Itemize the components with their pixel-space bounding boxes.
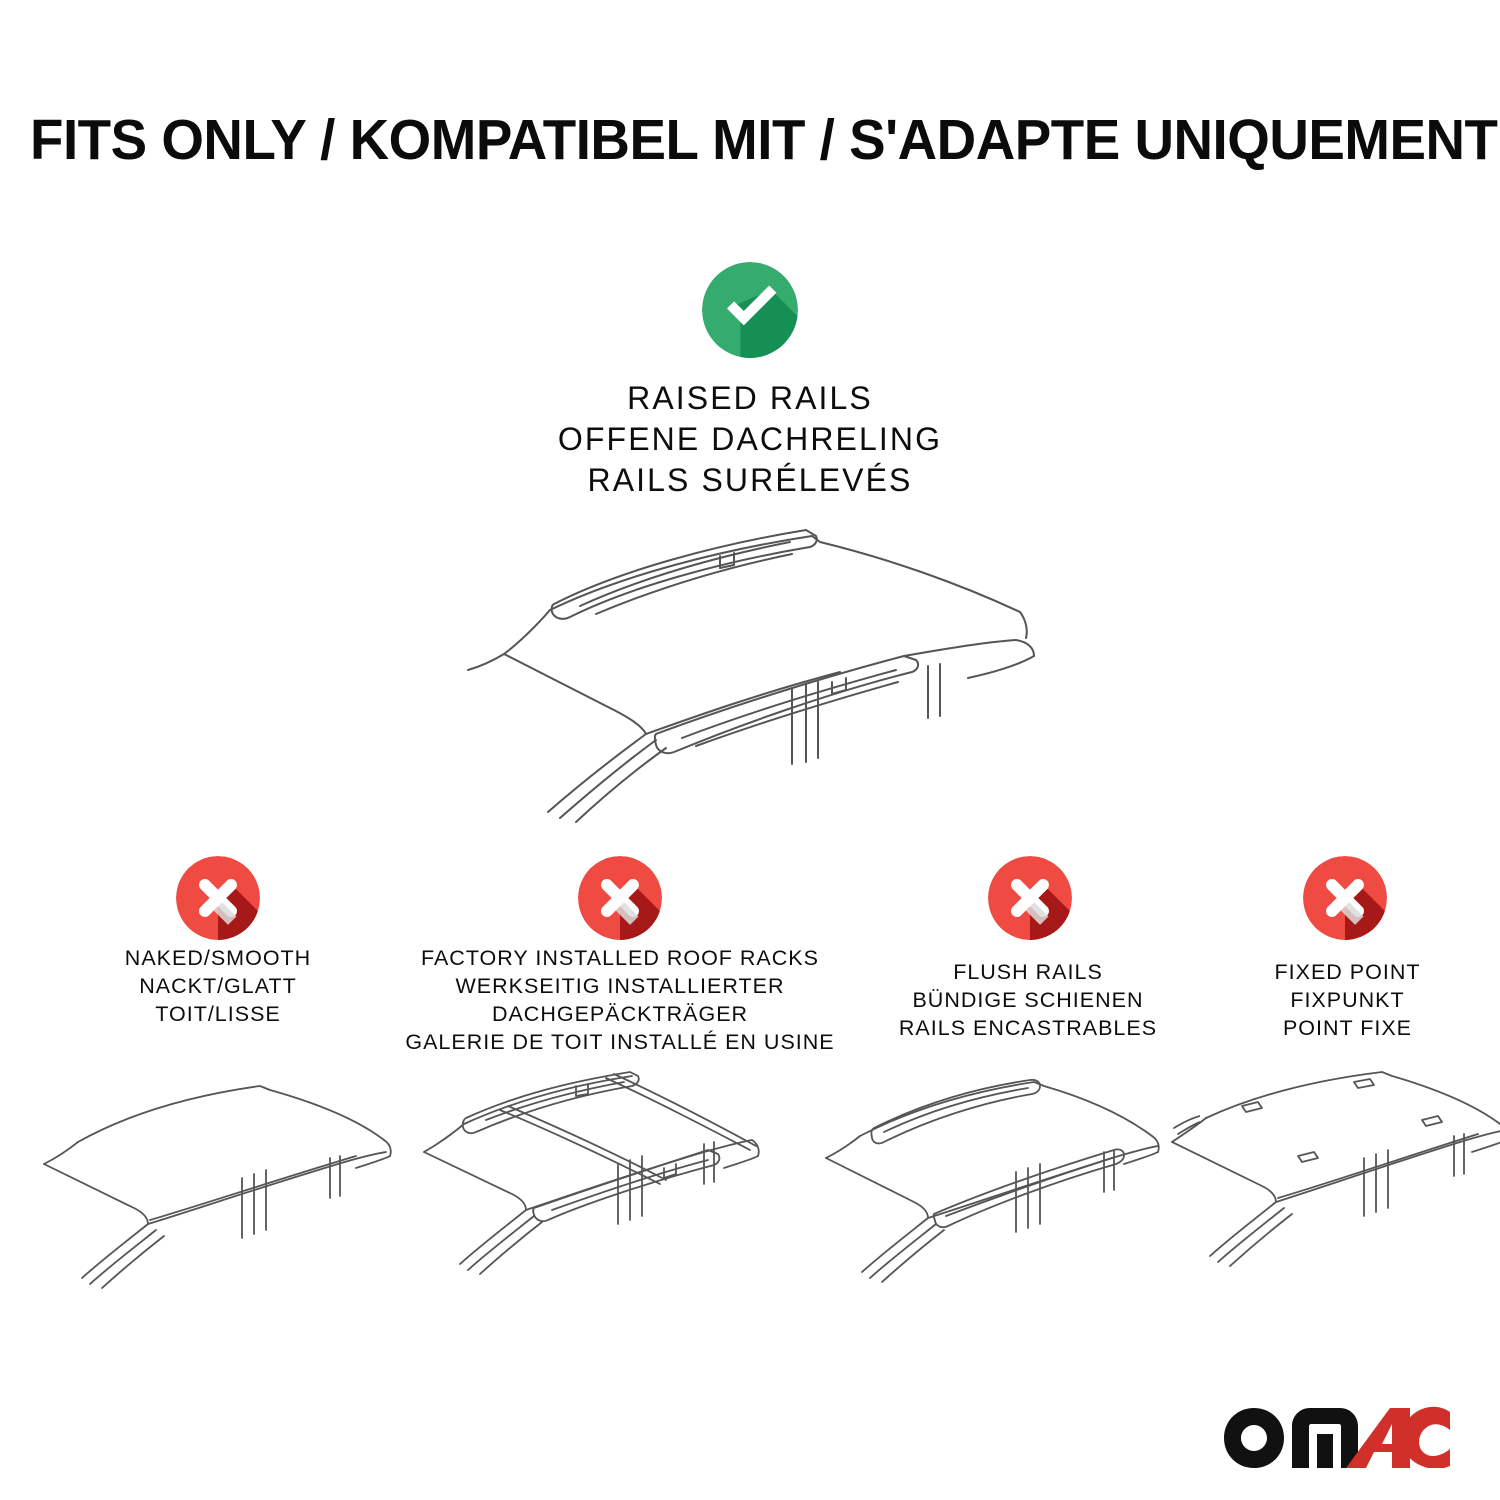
incompatible-label-line: NAKED/SMOOTH (58, 944, 378, 972)
car-roof-flush-rails-illustration (818, 1062, 1200, 1294)
incompatible-label-line: RAILS ENCASTRABLES (862, 1014, 1194, 1042)
incompatible-label-line: FIXED POINT (1205, 958, 1490, 986)
incompatible-label-line: FIXPUNKT (1205, 986, 1490, 1014)
incompatible-label-line: DACHGEPÄCKTRÄGER (398, 1000, 842, 1028)
car-roof-fixed-point-illustration (1158, 1062, 1500, 1294)
compatible-label-line: OFFENE DACHRELING (450, 419, 1050, 460)
compatible-label-line: RAILS SURÉLEVÉS (450, 460, 1050, 501)
cross-circle-icon (578, 856, 662, 940)
compatible-label: RAISED RAILS OFFENE DACHRELING RAILS SUR… (450, 378, 1050, 501)
car-roof-factory-roof-racks-illustration (408, 1062, 790, 1294)
incompatible-label-line: WERKSEITIG INSTALLIERTER (398, 972, 842, 1000)
cross-circle-icon (1303, 856, 1387, 940)
car-roof-raised-rails-illustration (420, 512, 1100, 830)
incompatible-label-factory-roof-racks: FACTORY INSTALLED ROOF RACKS WERKSEITIG … (398, 944, 842, 1056)
incompatible-label-flush-rails: FLUSH RAILS BÜNDIGE SCHIENEN RAILS ENCAS… (862, 958, 1194, 1042)
incompatible-label-line: NACKT/GLATT (58, 972, 378, 1000)
incompatible-label-naked-smooth: NAKED/SMOOTH NACKT/GLATT TOIT/LISSE (58, 944, 378, 1028)
check-circle-icon (702, 262, 798, 358)
page-title: FITS ONLY / KOMPATIBEL MIT / S'ADAPTE UN… (30, 108, 1470, 172)
compatible-label-line: RAISED RAILS (450, 378, 1050, 419)
omac-logo (1222, 1404, 1462, 1468)
incompatible-label-line: TOIT/LISSE (58, 1000, 378, 1028)
cross-circle-icon (988, 856, 1072, 940)
incompatible-label-fixed-point: FIXED POINT FIXPUNKT POINT FIXE (1205, 958, 1490, 1042)
incompatible-label-line: FACTORY INSTALLED ROOF RACKS (398, 944, 842, 972)
incompatible-label-line: BÜNDIGE SCHIENEN (862, 986, 1194, 1014)
incompatible-label-line: POINT FIXE (1205, 1014, 1490, 1042)
incompatible-label-line: FLUSH RAILS (862, 958, 1194, 986)
car-roof-naked-smooth-illustration (38, 1062, 420, 1294)
cross-circle-icon (176, 856, 260, 940)
incompatible-label-line: GALERIE DE TOIT INSTALLÉ EN USINE (398, 1028, 842, 1056)
